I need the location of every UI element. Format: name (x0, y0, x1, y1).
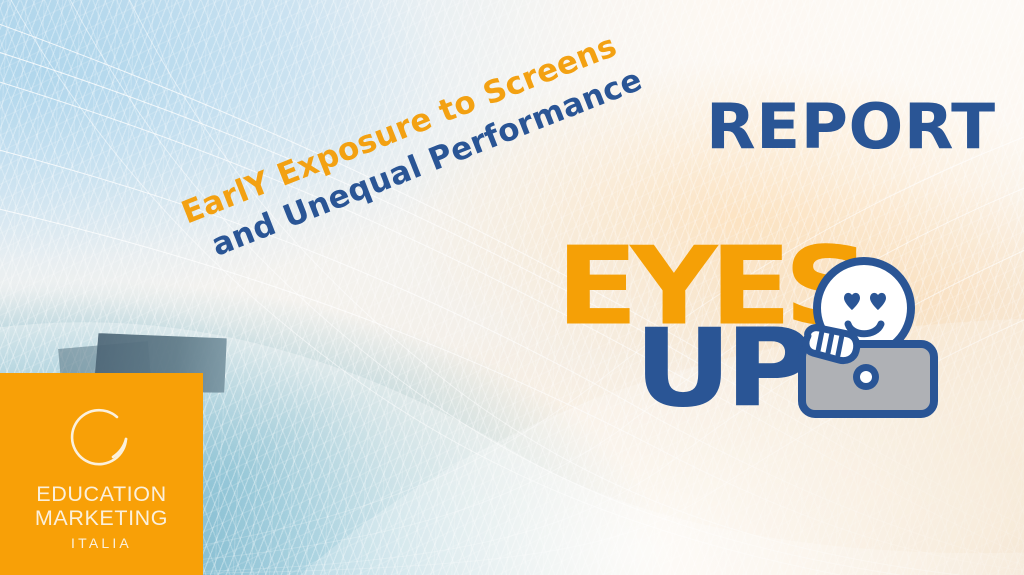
logo-line-education: EDUCATION (0, 482, 203, 506)
mascot-hand-icon (806, 328, 857, 361)
laptop-logo-dot-icon (860, 371, 872, 383)
education-marketing-italia-logo: EDUCATION MARKETING ITALIA (0, 373, 203, 575)
eyes-up-wordmark: EYES UP (556, 232, 824, 422)
wordmark-up: UP (634, 314, 806, 422)
mascot-illustration (786, 252, 946, 420)
open-circle-mark-icon (63, 395, 141, 473)
logo-line-marketing: MARKETING (0, 506, 203, 530)
logo-line-italia: ITALIA (0, 536, 203, 552)
report-label: REPORT (706, 96, 996, 158)
report-cover-poster: REPORT EarlY Exposure to Screens and Une… (0, 0, 1024, 575)
